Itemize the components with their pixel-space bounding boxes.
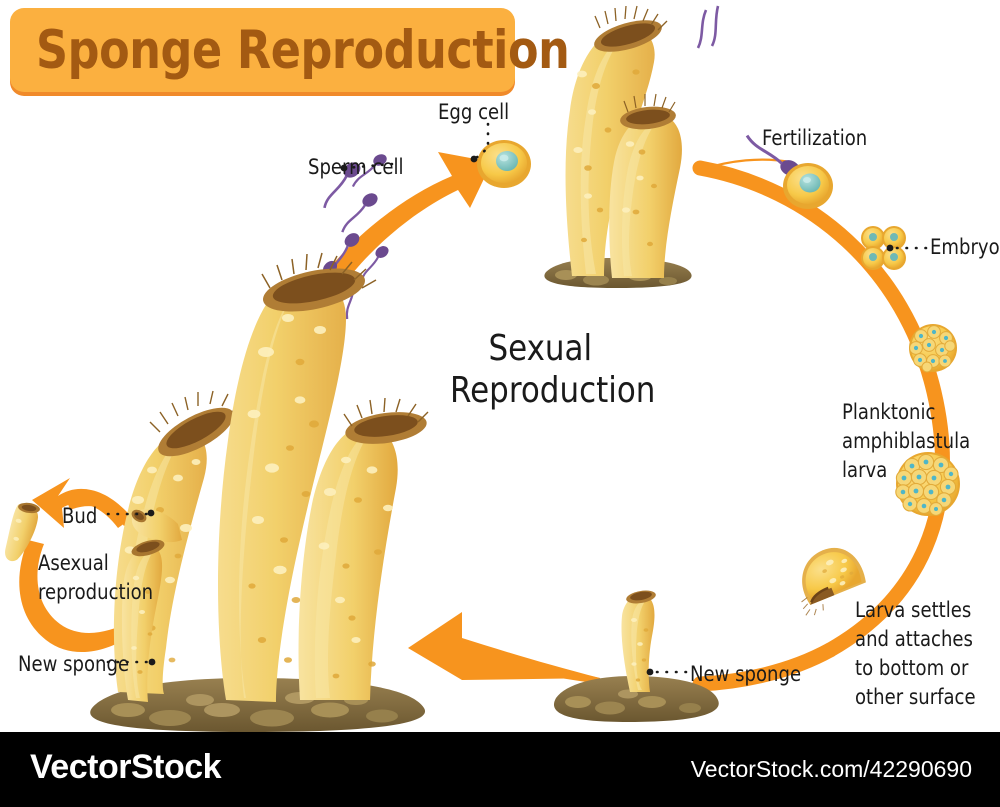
embryo-graphic	[861, 226, 906, 270]
diagram-canvas: Sponge Reproduction Egg cell Sperm cell …	[0, 0, 1000, 807]
arrow-new-sponge-to-adult	[408, 612, 600, 684]
new-sponge-graphic	[554, 588, 719, 722]
blastula-larva-1	[909, 324, 957, 372]
label-bud: Bud	[62, 504, 97, 528]
label-sperm-cell: Sperm cell	[308, 155, 404, 179]
label-new-sponge-sexual: New sponge	[690, 662, 801, 686]
label-planktonic-larva: Planktonic amphiblastula larva	[842, 398, 971, 485]
label-sexual-reproduction: Sexual Reproduction	[450, 328, 631, 412]
footer-bar: VectorStock VectorStock.com/42290690	[0, 732, 1000, 807]
label-asexual-reproduction: Asexual reproduction	[38, 549, 150, 607]
label-fertilization: Fertilization	[762, 126, 867, 150]
footer-brand: VectorStock	[30, 748, 221, 787]
page-title: Sponge Reproduction	[36, 24, 569, 77]
footer-url: VectorStock.com/42290690	[691, 756, 972, 783]
label-embryo: Embryo	[930, 235, 1000, 259]
label-new-sponge-asexual: New sponge	[18, 652, 129, 676]
label-egg-cell: Egg cell	[438, 100, 509, 124]
egg-cell-graphic	[477, 140, 531, 188]
label-larva-settles: Larva settles and attaches to bottom or …	[855, 596, 993, 712]
title-banner: Sponge Reproduction	[10, 8, 515, 92]
